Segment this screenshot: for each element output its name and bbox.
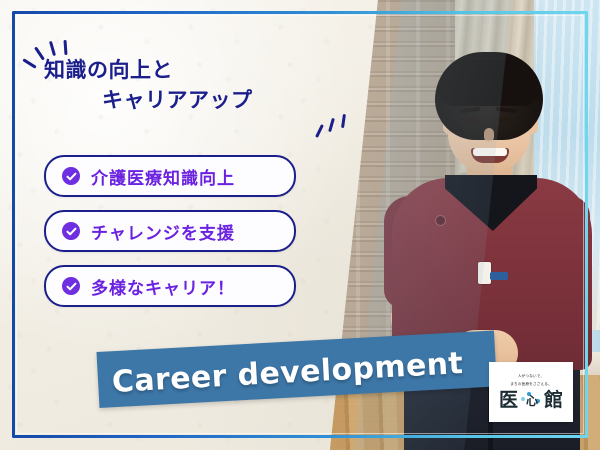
logo-char-left: 医 bbox=[499, 391, 518, 410]
hair-fringe bbox=[438, 60, 540, 106]
poster-canvas: 知識の向上と キャリアアップ 介護医療知識向上 チャレンジを支援 bbox=[0, 0, 600, 450]
headline-line-2: キャリアアップ bbox=[44, 86, 344, 116]
logo-char-right: 館 bbox=[544, 391, 563, 410]
teeth bbox=[473, 148, 507, 156]
logo-tagline-line-2: まちの医療をささえる。 bbox=[510, 382, 552, 387]
logo-wordmark: 医 心 館 bbox=[499, 390, 563, 410]
check-circle-icon bbox=[62, 277, 80, 295]
benefit-list: 介護医療知識向上 チャレンジを支援 多様なキャリア！ bbox=[44, 155, 296, 320]
benefit-item-1[interactable]: 介護医療知識向上 bbox=[44, 155, 296, 197]
badge-clip bbox=[490, 272, 508, 280]
logo-char-mark: 心 bbox=[526, 395, 538, 407]
brand-logo: 人がつないで、 まちの医療をささえる。 医 心 館 bbox=[489, 362, 573, 422]
nose bbox=[484, 128, 494, 142]
headline-line-1: 知識の向上と bbox=[44, 58, 173, 82]
benefit-item-2[interactable]: チャレンジを支援 bbox=[44, 210, 296, 252]
logo-tagline-line-1: 人がつないで、 bbox=[518, 374, 544, 379]
scrub-button bbox=[436, 216, 445, 225]
benefit-label: 多様なキャリア！ bbox=[91, 274, 235, 299]
sparkle-marks-right-icon bbox=[316, 108, 360, 144]
logo-heart-mark-icon: 心 bbox=[521, 390, 541, 410]
benefit-label: 介護医療知識向上 bbox=[91, 164, 235, 189]
smiling-mouth bbox=[471, 148, 509, 163]
headline: 知識の向上と キャリアアップ bbox=[44, 56, 344, 116]
check-circle-icon bbox=[62, 167, 80, 185]
benefit-item-3[interactable]: 多様なキャリア！ bbox=[44, 265, 296, 307]
check-circle-icon bbox=[62, 222, 80, 240]
benefit-label: チャレンジを支援 bbox=[91, 219, 235, 244]
